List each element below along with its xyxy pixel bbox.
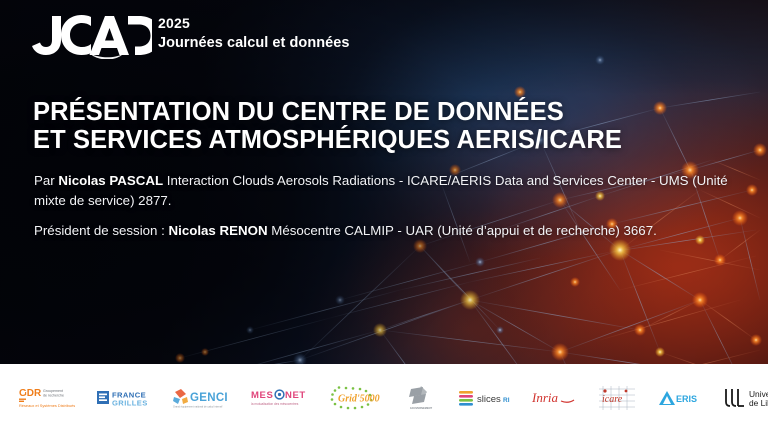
slide-title: PRÉSENTATION DU CENTRE DE DONNÉES ET SER… [33,98,673,154]
chair-affiliation: Mésocentre CALMIP - UAR (Unité d’appui e… [268,223,657,238]
svg-text:Grand équipement national de c: Grand équipement national de calcul inte… [173,406,223,409]
svg-text:RI: RI [503,397,510,404]
slide-title-line-1: PRÉSENTATION DU CENTRE DE DONNÉES [33,98,673,126]
sponsor-logo-gouvernement: GOUVERNEMENT [392,378,450,418]
inria-logo-icon: Inria [531,387,577,409]
svg-text:Réseaux et Systèmes Distribués: Réseaux et Systèmes Distribués [19,403,75,408]
jcad-logo: 2025 Journées calcul et données [30,13,349,59]
mesonet-logo-icon: MES NET la mutualisation des mésocentres [251,387,307,409]
jcad-wordmark-icon [30,13,152,59]
svg-text:icare: icare [602,394,623,405]
sponsor-logo-aeris: ERIS [648,378,714,418]
cnrs-logo-icon: cnrs [0,383,1,413]
svg-text:GRILLES: GRILLES [112,399,148,408]
france-grilles-logo-icon: FRANCE GRILLES [97,387,153,409]
aeris-logo-icon: ERIS [657,388,705,408]
svg-text:Grid'5000: Grid'5000 [338,394,380,405]
slide-title-line-2: ET SERVICES ATMOSPHÉRIQUES AERIS/ICARE [33,126,673,154]
sponsor-logo-inria: Inria [522,378,586,418]
sponsor-logo-bar: cnrs GDR Groupement de recherche Réseaux… [0,364,768,432]
svg-text:GENCI: GENCI [190,392,228,404]
svg-text:GOUVERNEMENT: GOUVERNEMENT [410,406,433,410]
sponsor-logo-universite-lille: Université de Lille [714,378,768,418]
sponsor-logo-gdr: GDR Groupement de recherche Réseaux et S… [10,378,88,418]
svg-text:la mutualisation des mésocentr: la mutualisation des mésocentres [251,402,299,406]
session-chair-line: Président de session : Nicolas RENON Més… [34,221,734,241]
svg-text:de Lille: de Lille [749,398,768,408]
slices-ri-logo-icon: slices RI [459,387,513,409]
svg-text:Groupement: Groupement [43,389,63,393]
chair-prefix: Président de session : [34,223,169,238]
svg-text:ERIS: ERIS [676,394,697,404]
sponsor-logo-icare: icare [586,378,648,418]
sponsor-logo-mesonet: MES NET la mutualisation des mésocentres [242,378,316,418]
icare-logo-icon: icare [595,385,639,411]
chair-name: Nicolas RENON [169,223,268,238]
gdr-logo-icon: GDR Groupement de recherche Réseaux et S… [19,385,79,411]
svg-text:slices: slices [477,394,501,405]
sponsor-logo-genci: GENCI Grand équipement national de calcu… [162,378,242,418]
presenter-name: Nicolas PASCAL [58,173,163,188]
sponsor-logo-grid5000: Grid'5000 [316,378,392,418]
svg-text:de recherche: de recherche [43,394,64,398]
universite-de-lille-logo-icon: Université de Lille [723,386,768,410]
presentation-slide: 2025 Journées calcul et données PRÉSENTA… [0,0,768,432]
sponsor-logo-france-grilles: FRANCE GRILLES [88,378,162,418]
logo-subtitle: Journées calcul et données [158,35,349,52]
grid5000-logo-icon: Grid'5000 [325,385,383,411]
svg-text:NET: NET [285,390,306,401]
gouvernement-marianne-logo-icon: GOUVERNEMENT [401,384,441,412]
sponsor-logo-cnrs: cnrs [0,378,10,418]
sponsor-logo-slices-ri: slices RI [450,378,522,418]
svg-text:MES: MES [251,390,273,401]
presenter-prefix: Par [34,173,58,188]
genci-logo-icon: GENCI Grand équipement national de calcu… [171,386,233,410]
svg-text:Inria: Inria [531,390,559,405]
logo-year: 2025 [158,16,349,31]
presenter-line: Par Nicolas PASCAL Interaction Clouds Ae… [34,171,734,211]
